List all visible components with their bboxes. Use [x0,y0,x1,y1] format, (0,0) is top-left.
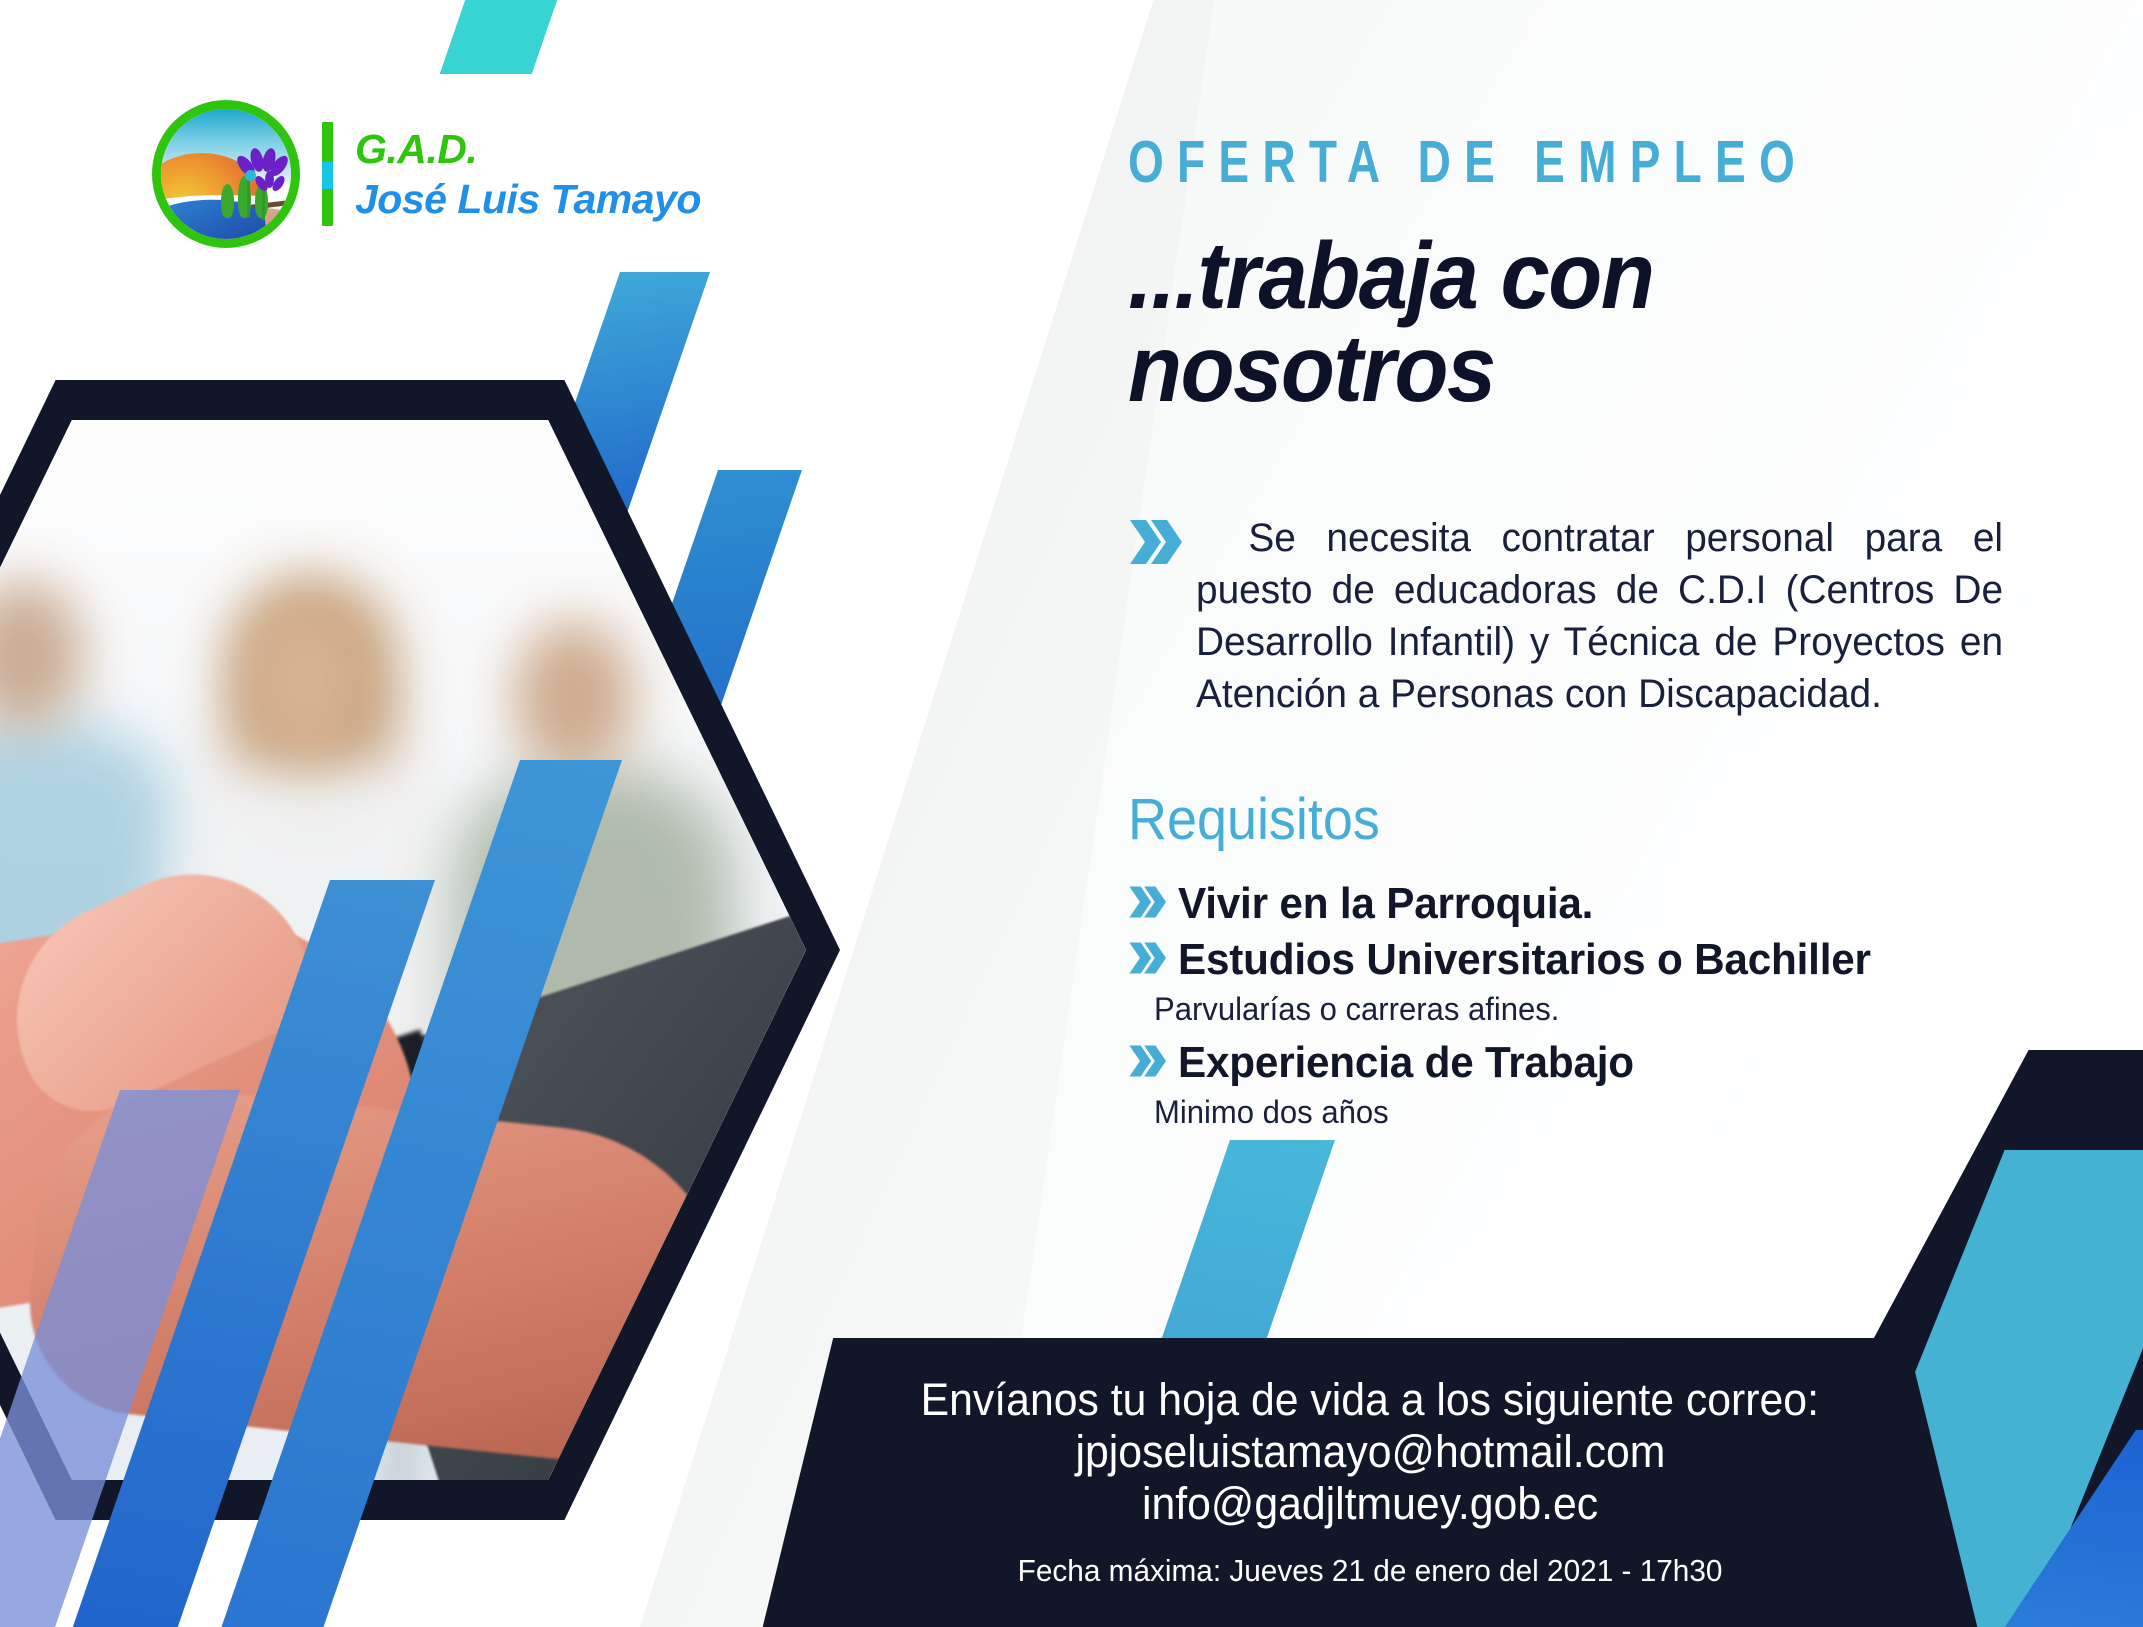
requirement-label: Estudios Universitarios o Bachiller [1178,935,1871,985]
requirements-list: Vivir en la Parroquia. Estudios Universi… [1128,879,2028,1131]
requirement-subtext: Minimo dos años [1154,1094,2002,1131]
logo-text-block: G.A.D. José Luis Tamayo [355,129,701,220]
contact-cta: Envíanos tu hoja de vida a los siguiente… [921,1374,1819,1426]
double-chevron-right-icon [1128,883,1166,926]
contact-email-secondary[interactable]: info@gadjltmuey.gob.ec [1142,1478,1598,1530]
photo-person2-head [244,600,369,760]
logo-parish-name: José Luis Tamayo [355,179,701,220]
intro-block: Se necesita contratar personal para el p… [1128,512,2028,720]
list-item: Experiencia de Trabajo [1128,1038,2028,1088]
double-chevron-right-icon [1128,939,1166,982]
content-column: OFERTA DE EMPLEO ...trabaja con nosotros… [1128,0,2028,1141]
contact-panel: Envíanos tu hoja de vida a los siguiente… [760,1338,1980,1627]
contact-panel-content: Envíanos tu hoja de vida a los siguiente… [760,1338,1980,1627]
headline-line-1: ...trabaja con [1128,230,1835,323]
emblem-tree [221,184,234,218]
photo-person3-head [514,620,634,775]
logo-acronym: G.A.D. [355,129,701,170]
page-kicker: OFERTA DE EMPLEO [1128,128,1830,196]
double-chevron-right-icon [1128,516,1182,573]
brand-logo: G.A.D. José Luis Tamayo [152,100,701,248]
emblem-flower-center [245,170,256,181]
contact-email-primary[interactable]: jpjoseluistamayo@hotmail.com [1075,1426,1665,1478]
requirement-label: Experiencia de Trabajo [1178,1038,1634,1088]
gad-circular-emblem-icon [152,100,300,248]
emblem-flower-small-icon [257,171,287,197]
requirement-label: Vivir en la Parroquia. [1178,879,1593,929]
double-chevron-right-icon [1128,1042,1166,1085]
intro-paragraph: Se necesita contratar personal para el p… [1196,512,2003,720]
list-item: Vivir en la Parroquia. [1128,879,2028,929]
requirements-title: Requisitos [1128,786,1965,853]
requirement-subtext: Parvularías o carreras afines. [1154,991,2002,1028]
page-title: ...trabaja con nosotros [1128,230,1835,416]
list-item: Estudios Universitarios o Bachiller [1128,935,2028,985]
application-deadline: Fecha máxima: Jueves 21 de enero del 202… [1018,1553,1723,1589]
headline-line-2: nosotros [1128,323,1835,416]
logo-divider-bar [322,122,333,226]
flyer-canvas: G.A.D. José Luis Tamayo OFERTA DE EMPLEO… [0,0,2143,1627]
